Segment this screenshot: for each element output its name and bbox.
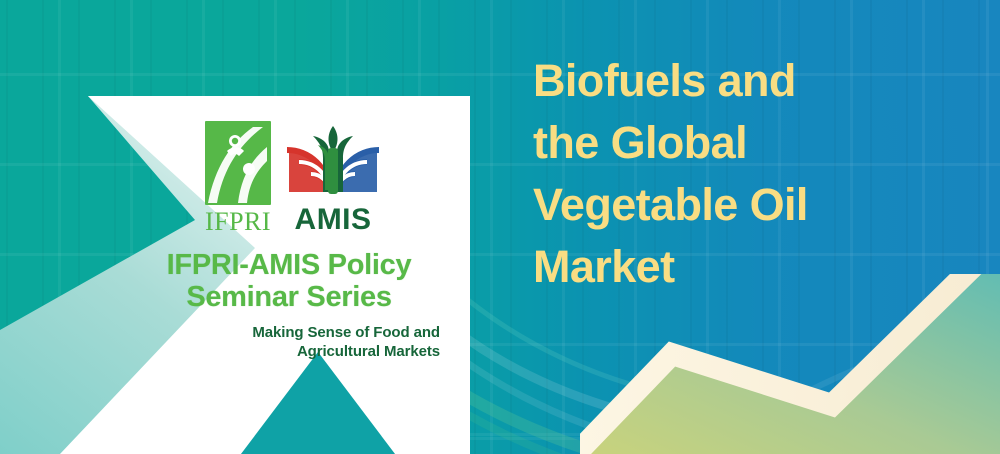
trend-chart-svg [580, 274, 1000, 454]
series-title-line-2: Seminar Series [186, 281, 391, 313]
series-title-line-1: IFPRI-AMIS Policy [167, 249, 412, 281]
series-tagline: Making Sense of Food and Agricultural Ma… [102, 324, 456, 362]
amis-wordmark: AMIS [295, 205, 372, 235]
ifpri-wordmark: IFPRI [205, 209, 271, 235]
ifpri-logo: IFPRI [205, 121, 271, 235]
logo-row: IFPRI [205, 118, 381, 235]
headline-line-3: Vegetable Oil [533, 174, 963, 236]
card-content: IFPRI [88, 96, 470, 454]
series-tagline-line-2: Agricultural Markets [297, 343, 440, 360]
ifpri-mark-icon [205, 121, 271, 205]
series-title: IFPRI-AMIS Policy Seminar Series [112, 249, 466, 314]
rising-trend-graphic [580, 274, 1000, 454]
series-tagline-line-1: Making Sense of Food and [252, 324, 440, 341]
identity-card: IFPRI [0, 0, 500, 454]
amis-mark-icon [285, 118, 381, 202]
amis-logo: AMIS [285, 118, 381, 235]
headline-line-1: Biofuels and [533, 50, 963, 112]
banner-headline: Biofuels and the Global Vegetable Oil Ma… [533, 50, 963, 298]
seminar-banner: IFPRI [0, 0, 1000, 454]
headline-line-4: Market [533, 236, 963, 298]
headline-line-2: the Global [533, 112, 963, 174]
